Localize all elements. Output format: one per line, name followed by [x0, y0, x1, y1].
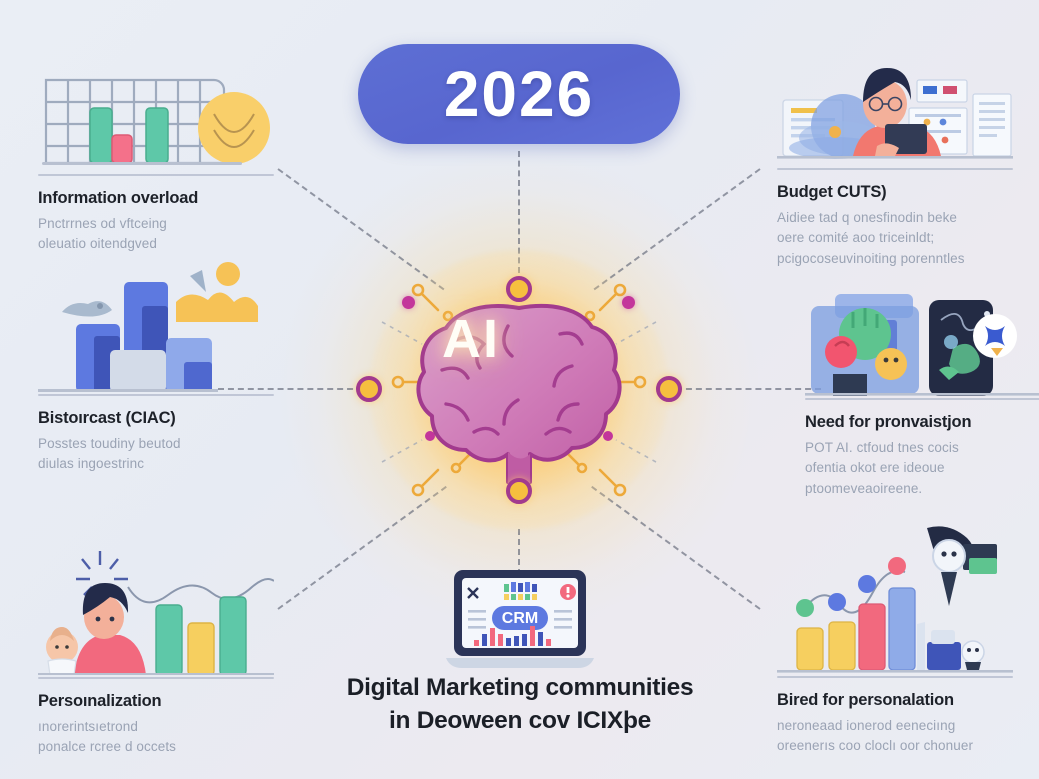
year-label: 2026	[444, 57, 594, 131]
ai-core: AI	[364, 250, 674, 530]
block-budget-cuts: Budget CUTS) Aidiee tad q onesfinodin be…	[777, 52, 1013, 269]
infographic-canvas: 2026 Information over	[0, 0, 1039, 779]
crm-screen-label: CRM	[502, 610, 538, 627]
node-bottom	[506, 478, 532, 504]
laptop-crm-dashboard-icon: CRM	[440, 566, 600, 672]
block-subtitle: Posstes toudiny beutod diulas ingoestrin…	[38, 434, 274, 475]
footer-title: Digital Marketing communities in Deoween…	[190, 672, 850, 737]
node-top-right	[622, 296, 635, 309]
divider	[38, 174, 274, 176]
block-subtitle: POT AI. ctfoud tnes cocis ofentia okot e…	[805, 438, 1039, 500]
year-badge: 2026	[358, 44, 680, 144]
block-title: Budget CUTS)	[777, 183, 1013, 203]
block-title: Information overload	[38, 189, 274, 209]
block-subtitle: Aidiee tad q onesfinodin beke oere comit…	[777, 208, 1013, 270]
node-right	[656, 376, 682, 402]
block-title: Bistoırcast (CIAC)	[38, 409, 274, 429]
mobile-cards-with-badge-icon	[805, 290, 1039, 396]
footer-title-line2: in Deoween cov ICIXþe	[190, 705, 850, 738]
divider	[38, 394, 274, 396]
node-top-left	[402, 296, 415, 309]
footer-title-line1: Digital Marketing communities	[190, 672, 850, 705]
block-title: Need for pronvaistjon	[805, 413, 1039, 433]
block-subtitle: Pnctrrnes od vftceing oleuatio oitendgve…	[38, 214, 274, 255]
node-top	[506, 276, 532, 302]
divider	[805, 398, 1039, 400]
connector-line-middle-right	[676, 388, 821, 390]
person-with-child-and-bars-icon	[38, 545, 274, 675]
block-need-for-provision: Need for pronvaistjon POT AI. ctfoud tne…	[805, 290, 1039, 499]
ai-label: AI	[364, 308, 578, 370]
block-information-overload: Information overload Pnctrrnes od vftcei…	[38, 58, 274, 255]
blue-bar-chart-with-birds-icon	[38, 262, 274, 392]
node-left	[356, 376, 382, 402]
block-bistoircast-cac: Bistoırcast (CIAC) Posstes toudiny beuto…	[38, 262, 274, 475]
person-with-tablet-office-icon	[777, 52, 1013, 164]
ascending-bars-with-trend-icon	[777, 524, 1013, 674]
grid-bar-chart-with-sun-icon	[38, 58, 274, 170]
divider	[777, 168, 1013, 170]
